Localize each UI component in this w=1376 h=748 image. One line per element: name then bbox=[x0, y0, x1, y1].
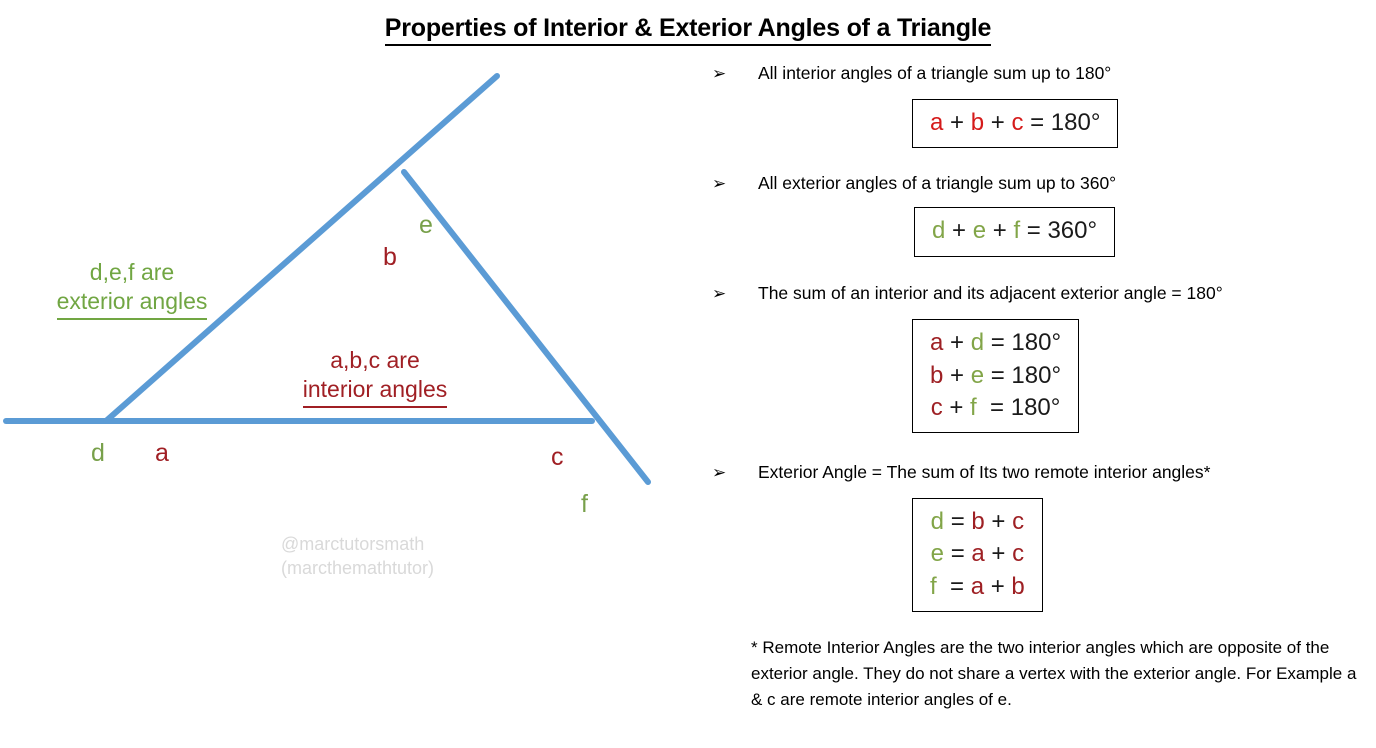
formula-line-4c: f = a + b bbox=[930, 571, 1025, 603]
triangle-diagram: d,e,f are exterior angles a,b,c are inte… bbox=[0, 55, 700, 555]
formula-box-3-wrap: a + d = 180° b + e = 180° c + f = 180° bbox=[912, 319, 1367, 433]
formula-op: + bbox=[943, 362, 970, 389]
page-title-text: Properties of Interior & Exterior Angles… bbox=[385, 14, 991, 46]
formula-term-green: e bbox=[971, 362, 984, 389]
formula-term-red: c bbox=[1012, 508, 1024, 535]
formula-term-c: c bbox=[1011, 109, 1023, 136]
formula-op-2: + bbox=[984, 109, 1011, 136]
bullet-text-3: The sum of an interior and its adjacent … bbox=[758, 280, 1223, 306]
right-side-extended-line bbox=[404, 172, 648, 482]
page-title: Properties of Interior & Exterior Angles… bbox=[0, 14, 1376, 43]
formula-box-1: a + b + c = 180° bbox=[912, 99, 1118, 148]
angle-label-a: a bbox=[155, 441, 169, 466]
formula-tail-1: = 180° bbox=[1023, 109, 1100, 136]
bullet-item-4: ➢ Exterior Angle = The sum of Its two re… bbox=[712, 459, 1367, 486]
formula-op: + bbox=[943, 329, 970, 356]
formula-term-red: a bbox=[930, 329, 943, 356]
formula-line-2: d + e + f = 360° bbox=[932, 215, 1097, 247]
interior-angles-label-line1: a,b,c are bbox=[287, 346, 463, 375]
formula-term-b: b bbox=[971, 109, 984, 136]
formula-box-2-wrap: d + e + f = 360° bbox=[914, 207, 1367, 256]
formula-term-a: a bbox=[930, 109, 943, 136]
formula-line-4a: d = b + c bbox=[930, 506, 1025, 538]
formula-line-3b: b + e = 180° bbox=[930, 360, 1061, 392]
formula-eq: = bbox=[944, 508, 971, 535]
formula-line-3a: a + d = 180° bbox=[930, 327, 1061, 359]
interior-angles-label-line2: interior angles bbox=[303, 375, 447, 407]
bullet-arrow-icon: ➢ bbox=[712, 280, 758, 307]
formula-tail-2: = 360° bbox=[1020, 217, 1097, 244]
formula-line-1: a + b + c = 180° bbox=[930, 107, 1100, 139]
formula-op: + bbox=[985, 508, 1012, 535]
exterior-angles-label-line2: exterior angles bbox=[57, 287, 208, 319]
formula-tail: = 180° bbox=[977, 394, 1061, 421]
exterior-angles-label-line1: d,e,f are bbox=[41, 258, 223, 287]
formula-box-4: d = b + c e = a + c f = a + b bbox=[912, 498, 1043, 612]
angle-label-d: d bbox=[91, 441, 105, 466]
bullet-arrow-icon: ➢ bbox=[712, 459, 758, 486]
exterior-angles-label: d,e,f are exterior angles bbox=[41, 258, 223, 320]
footnote-text: * Remote Interior Angles are the two int… bbox=[751, 635, 1363, 712]
interior-angles-label: a,b,c are interior angles bbox=[287, 346, 463, 408]
formula-term-red: a bbox=[971, 540, 984, 567]
formula-term-e: e bbox=[973, 217, 986, 244]
angle-label-f: f bbox=[581, 492, 588, 517]
formula-box-3: a + d = 180° b + e = 180° c + f = 180° bbox=[912, 319, 1079, 433]
bullet-item-3: ➢ The sum of an interior and its adjacen… bbox=[712, 280, 1367, 307]
watermark: @marctutorsmath (marcthemathtutor) bbox=[281, 532, 434, 581]
formula-term-red: b bbox=[930, 362, 943, 389]
formula-term-green: d bbox=[931, 508, 944, 535]
formula-term-red: c bbox=[931, 394, 943, 421]
angle-label-e: e bbox=[419, 213, 433, 238]
formula-eq: = bbox=[944, 540, 971, 567]
formula-op: + bbox=[985, 540, 1012, 567]
formula-line-4b: e = a + c bbox=[930, 538, 1025, 570]
formula-box-4-wrap: d = b + c e = a + c f = a + b bbox=[912, 498, 1367, 612]
formula-term-red: a bbox=[971, 573, 984, 600]
formula-tail: = 180° bbox=[984, 329, 1061, 356]
bullet-item-1: ➢ All interior angles of a triangle sum … bbox=[712, 60, 1367, 87]
formula-box-1-wrap: a + b + c = 180° bbox=[912, 99, 1367, 148]
formula-eq: = bbox=[937, 573, 971, 600]
formula-line-3c: c + f = 180° bbox=[930, 392, 1061, 424]
formula-term-red: c bbox=[1012, 540, 1024, 567]
formula-term-green: f bbox=[930, 573, 937, 600]
angle-label-c: c bbox=[551, 445, 564, 470]
formula-tail: = 180° bbox=[984, 362, 1061, 389]
formula-term-d: d bbox=[932, 217, 945, 244]
bullet-item-2: ➢ All exterior angles of a triangle sum … bbox=[712, 170, 1367, 197]
bullet-arrow-icon: ➢ bbox=[712, 60, 758, 87]
angle-label-b: b bbox=[383, 245, 397, 270]
formula-term-red: b bbox=[1011, 573, 1024, 600]
formula-op: + bbox=[984, 573, 1011, 600]
formula-box-2: d + e + f = 360° bbox=[914, 207, 1115, 256]
bullet-text-4: Exterior Angle = The sum of Its two remo… bbox=[758, 459, 1210, 485]
formula-op-1: + bbox=[943, 109, 970, 136]
bullet-text-1: All interior angles of a triangle sum up… bbox=[758, 60, 1111, 86]
properties-list: ➢ All interior angles of a triangle sum … bbox=[712, 60, 1367, 713]
bullet-text-2: All exterior angles of a triangle sum up… bbox=[758, 170, 1116, 196]
formula-term-green: d bbox=[971, 329, 984, 356]
formula-op: + bbox=[943, 394, 970, 421]
formula-term-green: f bbox=[970, 394, 977, 421]
formula-op-1: + bbox=[945, 217, 972, 244]
bullet-arrow-icon: ➢ bbox=[712, 170, 758, 197]
formula-op-2: + bbox=[986, 217, 1013, 244]
formula-term-green: e bbox=[931, 540, 944, 567]
formula-term-red: b bbox=[971, 508, 984, 535]
